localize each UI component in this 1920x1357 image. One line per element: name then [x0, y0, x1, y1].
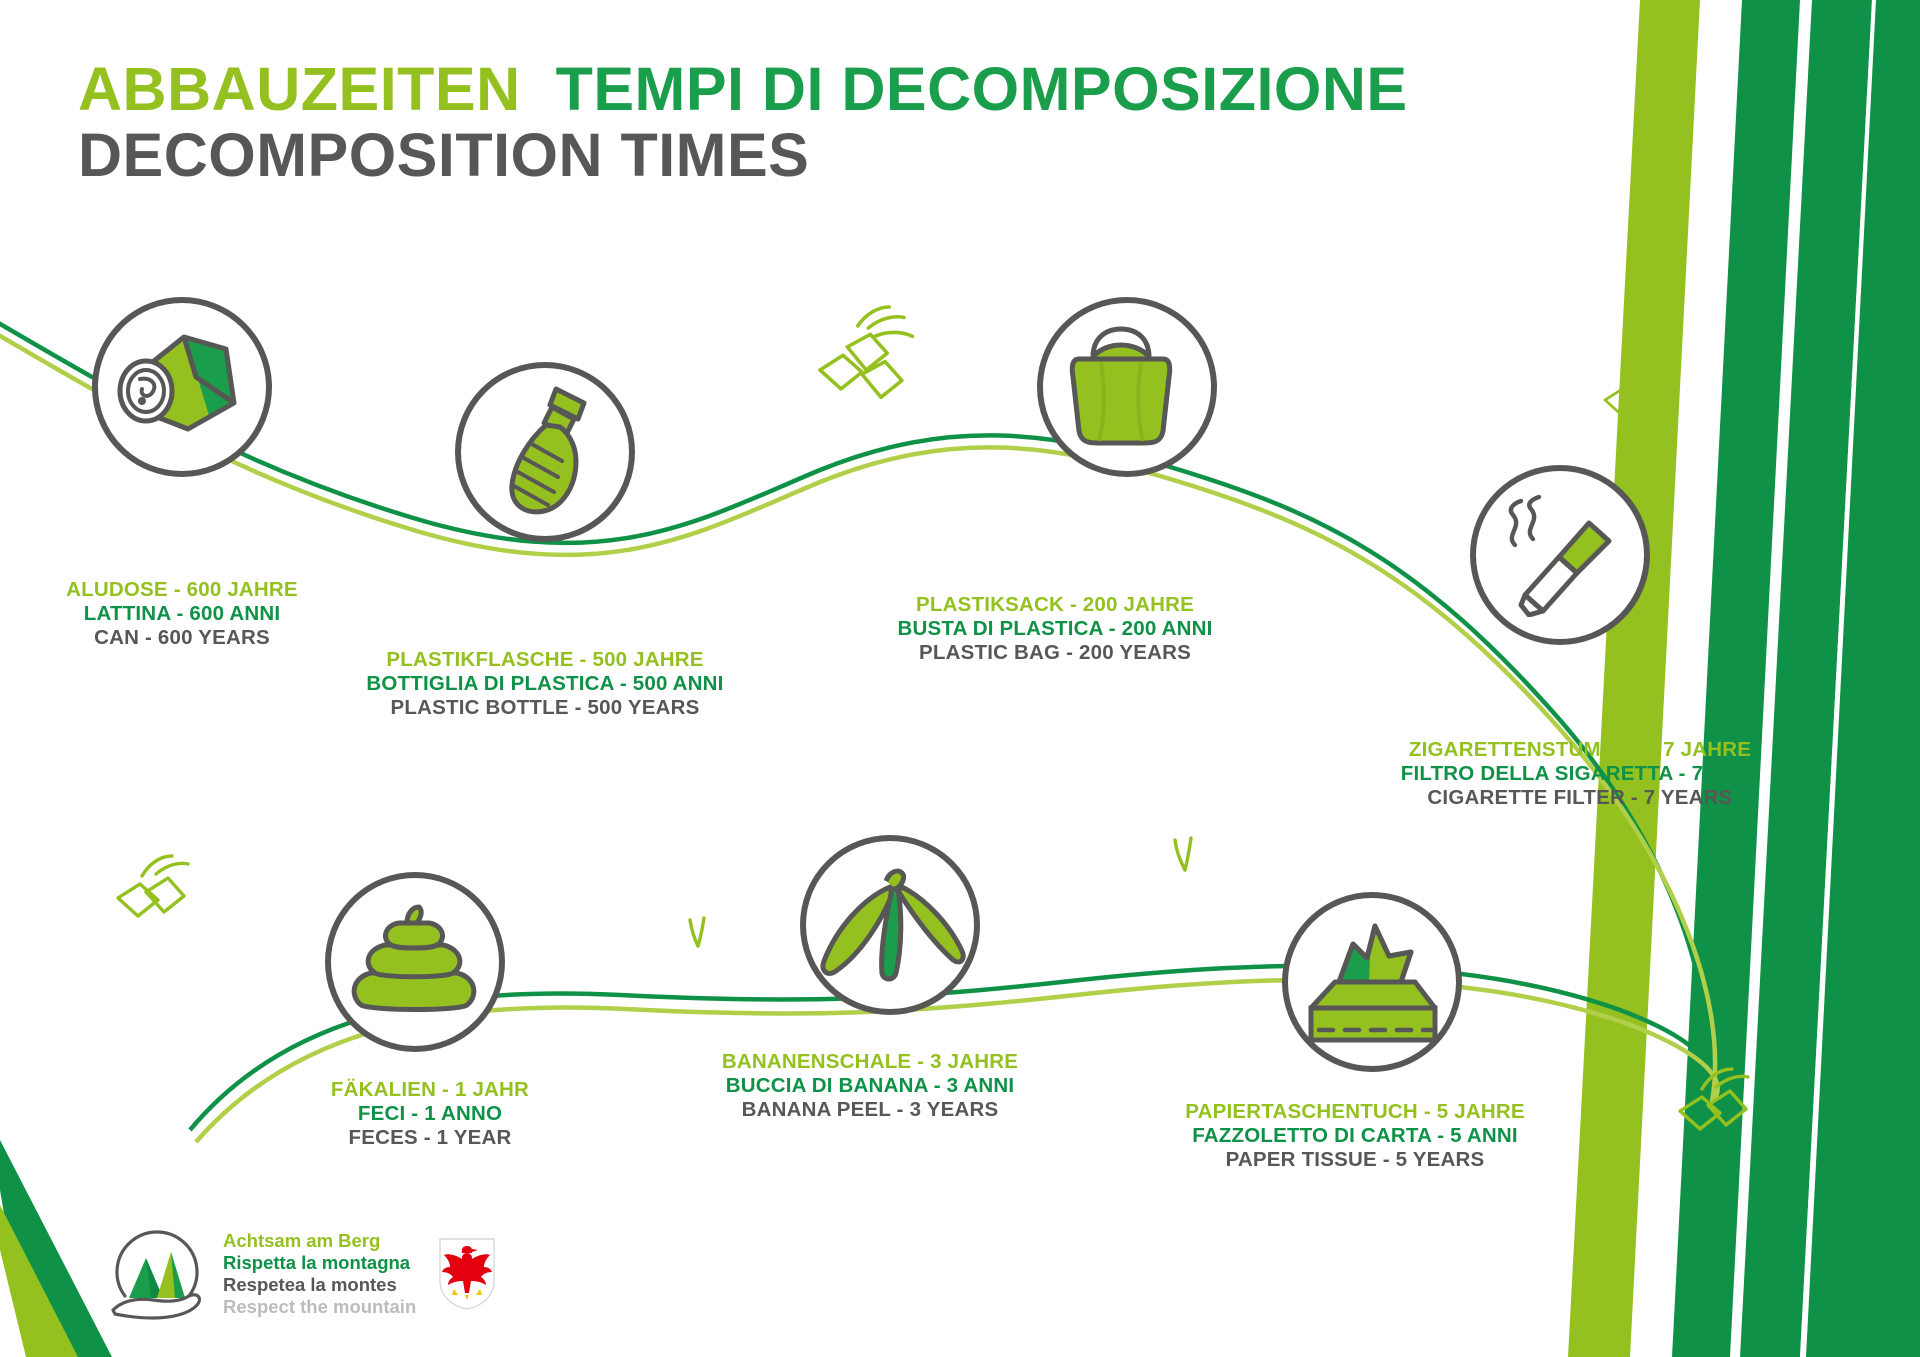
plastic-bottle-label-it: BOTTIGLIA DI PLASTICA - 500 ANNI: [350, 672, 740, 696]
infographic-poster: ABBAUZEITEN TEMPI DI DECOMPOSIZIONE DECO…: [0, 0, 1920, 1357]
footer-line-de: Achtsam am Berg: [223, 1230, 416, 1252]
stripe-white-right: [1630, 0, 1760, 1357]
can-label-en: CAN - 600 YEARS: [32, 626, 332, 650]
banana-peel-icon: [814, 863, 966, 987]
plastic-bag-circle: [1037, 297, 1217, 477]
banana-peel-label-de: BANANENSCHALE - 3 JAHRE: [680, 1050, 1060, 1074]
leaf-small-icon: [1605, 376, 1656, 414]
stripe-dark-green-right: [1660, 0, 1920, 1357]
can-caption: ALUDOSE - 600 JAHRE LATTINA - 600 ANNI C…: [32, 578, 332, 651]
title-english: DECOMPOSITION TIMES: [78, 121, 809, 189]
cigarette-filter-label-de: ZIGARETTENSTUMMEL - 7 JAHRE: [1360, 738, 1800, 762]
flow-lines: [0, 0, 1920, 1357]
mountain-in-hand-logo: [105, 1222, 209, 1326]
plastic-bag-label-it: BUSTA DI PLASTICA - 200 ANNI: [880, 617, 1230, 641]
title-german: ABBAUZEITEN: [78, 55, 521, 123]
plastic-bag-label-de: PLASTIKSACK - 200 JAHRE: [880, 593, 1230, 617]
plastic-bag-icon: [1065, 321, 1189, 453]
can-circle: [92, 297, 272, 477]
south-tyrol-eagle-crest: [438, 1237, 496, 1311]
footer-line-it: Rispetta la montagna: [223, 1252, 416, 1274]
cigarette-filter-icon: [1495, 493, 1625, 617]
title-italian: TEMPI DI DECOMPOSIZIONE: [556, 55, 1408, 123]
page-title: ABBAUZEITEN TEMPI DI DECOMPOSIZIONE DECO…: [78, 58, 1408, 186]
banana-peel-label-en: BANANA PEEL - 3 YEARS: [680, 1098, 1060, 1122]
grass-tuft-icon: [690, 918, 704, 946]
can-label-it: LATTINA - 600 ANNI: [32, 602, 332, 626]
feces-caption: FÄKALIEN - 1 JAHR FECI - 1 ANNO FECES - …: [270, 1078, 590, 1151]
paper-tissue-label-en: PAPER TISSUE - 5 YEARS: [1145, 1148, 1565, 1172]
feces-label-de: FÄKALIEN - 1 JAHR: [270, 1078, 590, 1102]
plastic-bag-label-en: PLASTIC BAG - 200 YEARS: [880, 641, 1230, 665]
plastic-bag-caption: PLASTIKSACK - 200 JAHRE BUSTA DI PLASTIC…: [880, 593, 1230, 666]
feces-circle: [325, 872, 505, 1052]
paper-tissue-caption: PAPIERTASCHENTUCH - 5 JAHRE FAZZOLETTO D…: [1145, 1100, 1565, 1173]
plastic-bottle-caption: PLASTIKFLASCHE - 500 JAHRE BOTTIGLIA DI …: [350, 648, 740, 721]
paper-tissue-label-it: FAZZOLETTO DI CARTA - 5 ANNI: [1145, 1124, 1565, 1148]
leaf-cluster-bottom-right-icon: [1680, 1069, 1748, 1129]
stripe-dark-green-bottom-left: [0, 1140, 112, 1357]
banana-peel-label-it: BUCCIA DI BANANA - 3 ANNI: [680, 1074, 1060, 1098]
leaf-cluster-left-icon: [118, 856, 188, 916]
decorative-foliage: [0, 0, 1920, 1357]
cigarette-filter-label-it: FILTRO DELLA SIGARETTA - 7 ANNI: [1360, 762, 1800, 786]
feces-label-it: FECI - 1 ANNO: [270, 1102, 590, 1126]
plastic-bottle-icon: [490, 383, 600, 521]
stripe-lime-right: [1568, 0, 1712, 1357]
feces-icon: [345, 903, 485, 1021]
paper-tissue-circle: [1282, 892, 1462, 1072]
leaf-cluster-icon: [820, 307, 912, 397]
footer-brand: Achtsam am Berg Rispetta la montagna Res…: [105, 1222, 496, 1326]
footer-slogan: Achtsam am Berg Rispetta la montagna Res…: [223, 1230, 416, 1318]
cigarette-filter-circle: [1470, 465, 1650, 645]
cigarette-filter-caption: ZIGARETTENSTUMMEL - 7 JAHRE FILTRO DELLA…: [1360, 738, 1800, 811]
aluminium-can-icon: [116, 327, 248, 447]
plastic-bottle-label-en: PLASTIC BOTTLE - 500 YEARS: [350, 696, 740, 720]
grass-tuft-icon: [1175, 838, 1191, 870]
footer-line-en: Respect the mountain: [223, 1296, 416, 1318]
banana-peel-circle: [800, 835, 980, 1015]
footer-line-lad: Respetea la montes: [223, 1274, 416, 1296]
cigarette-filter-label-en: CIGARETTE FILTER - 7 YEARS: [1360, 786, 1800, 810]
background-stripes: [0, 0, 1920, 1357]
plastic-bottle-label-de: PLASTIKFLASCHE - 500 JAHRE: [350, 648, 740, 672]
can-label-de: ALUDOSE - 600 JAHRE: [32, 578, 332, 602]
stripe-lime-bottom-left: [0, 1205, 78, 1357]
paper-tissue-label-de: PAPIERTASCHENTUCH - 5 JAHRE: [1145, 1100, 1565, 1124]
paper-tissue-icon: [1299, 918, 1445, 1046]
plastic-bottle-circle: [455, 362, 635, 542]
feces-label-en: FECES - 1 YEAR: [270, 1126, 590, 1150]
banana-peel-caption: BANANENSCHALE - 3 JAHRE BUCCIA DI BANANA…: [680, 1050, 1060, 1123]
